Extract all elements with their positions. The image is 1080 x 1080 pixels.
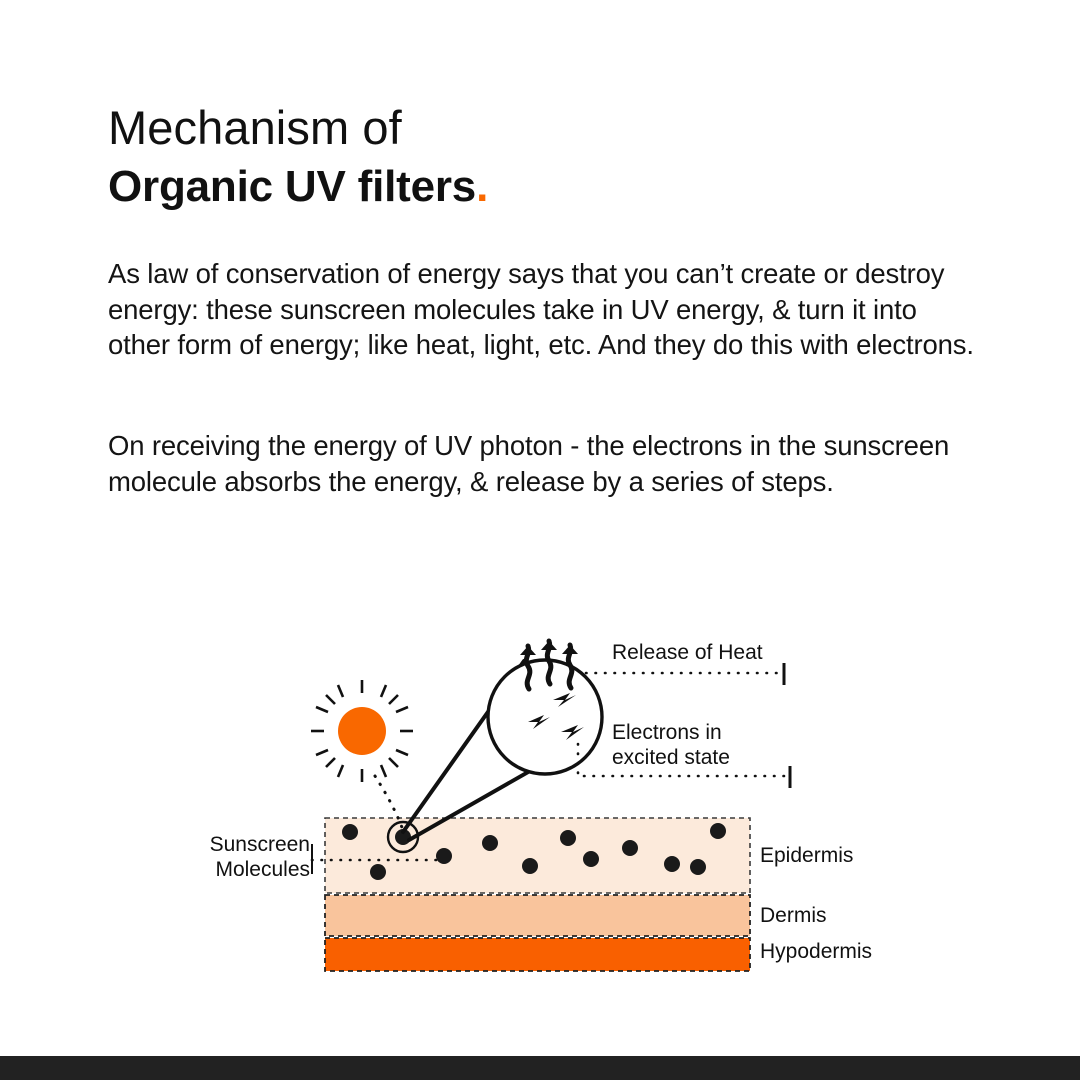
title-line-2: Organic UV filters.	[108, 160, 968, 214]
molecule-dot	[342, 824, 358, 840]
label-dermis: Dermis	[760, 903, 827, 928]
dermis-layer	[325, 895, 750, 936]
molecule-dot	[560, 830, 576, 846]
title-line-2-text: Organic UV filters	[108, 162, 476, 211]
molecule-dot	[710, 823, 726, 839]
title-accent-dot: .	[476, 162, 488, 211]
molecule-dot	[690, 859, 706, 875]
label-electrons-excited-state: Electrons in excited state	[612, 720, 730, 770]
label-epidermis: Epidermis	[760, 843, 853, 868]
sun-icon	[311, 680, 413, 782]
label-release-of-heat: Release of Heat	[612, 640, 763, 665]
page-title: Mechanism of Organic UV filters.	[108, 100, 968, 214]
molecule-dot	[522, 858, 538, 874]
sun-disc	[338, 707, 386, 755]
magnifier-circle	[488, 660, 602, 774]
molecule-dot	[482, 835, 498, 851]
body-paragraph-2: On receiving the energy of UV photon - t…	[108, 428, 980, 499]
body-paragraph-1: As law of conservation of energy says th…	[108, 256, 980, 363]
molecule-dot	[664, 856, 680, 872]
title-line-1: Mechanism of	[108, 100, 968, 156]
hypodermis-layer	[325, 938, 750, 971]
epidermis-layer	[325, 818, 750, 893]
molecule-dot	[370, 864, 386, 880]
mechanism-diagram	[0, 600, 1080, 1000]
molecule-dot	[436, 848, 452, 864]
label-sunscreen-molecules: Sunscreen Molecules	[178, 832, 310, 882]
molecule-dot	[583, 851, 599, 867]
label-hypodermis: Hypodermis	[760, 939, 872, 964]
footer-bar	[0, 1056, 1080, 1080]
poster-canvas: Mechanism of Organic UV filters. As law …	[0, 0, 1080, 1080]
molecule-dot	[622, 840, 638, 856]
